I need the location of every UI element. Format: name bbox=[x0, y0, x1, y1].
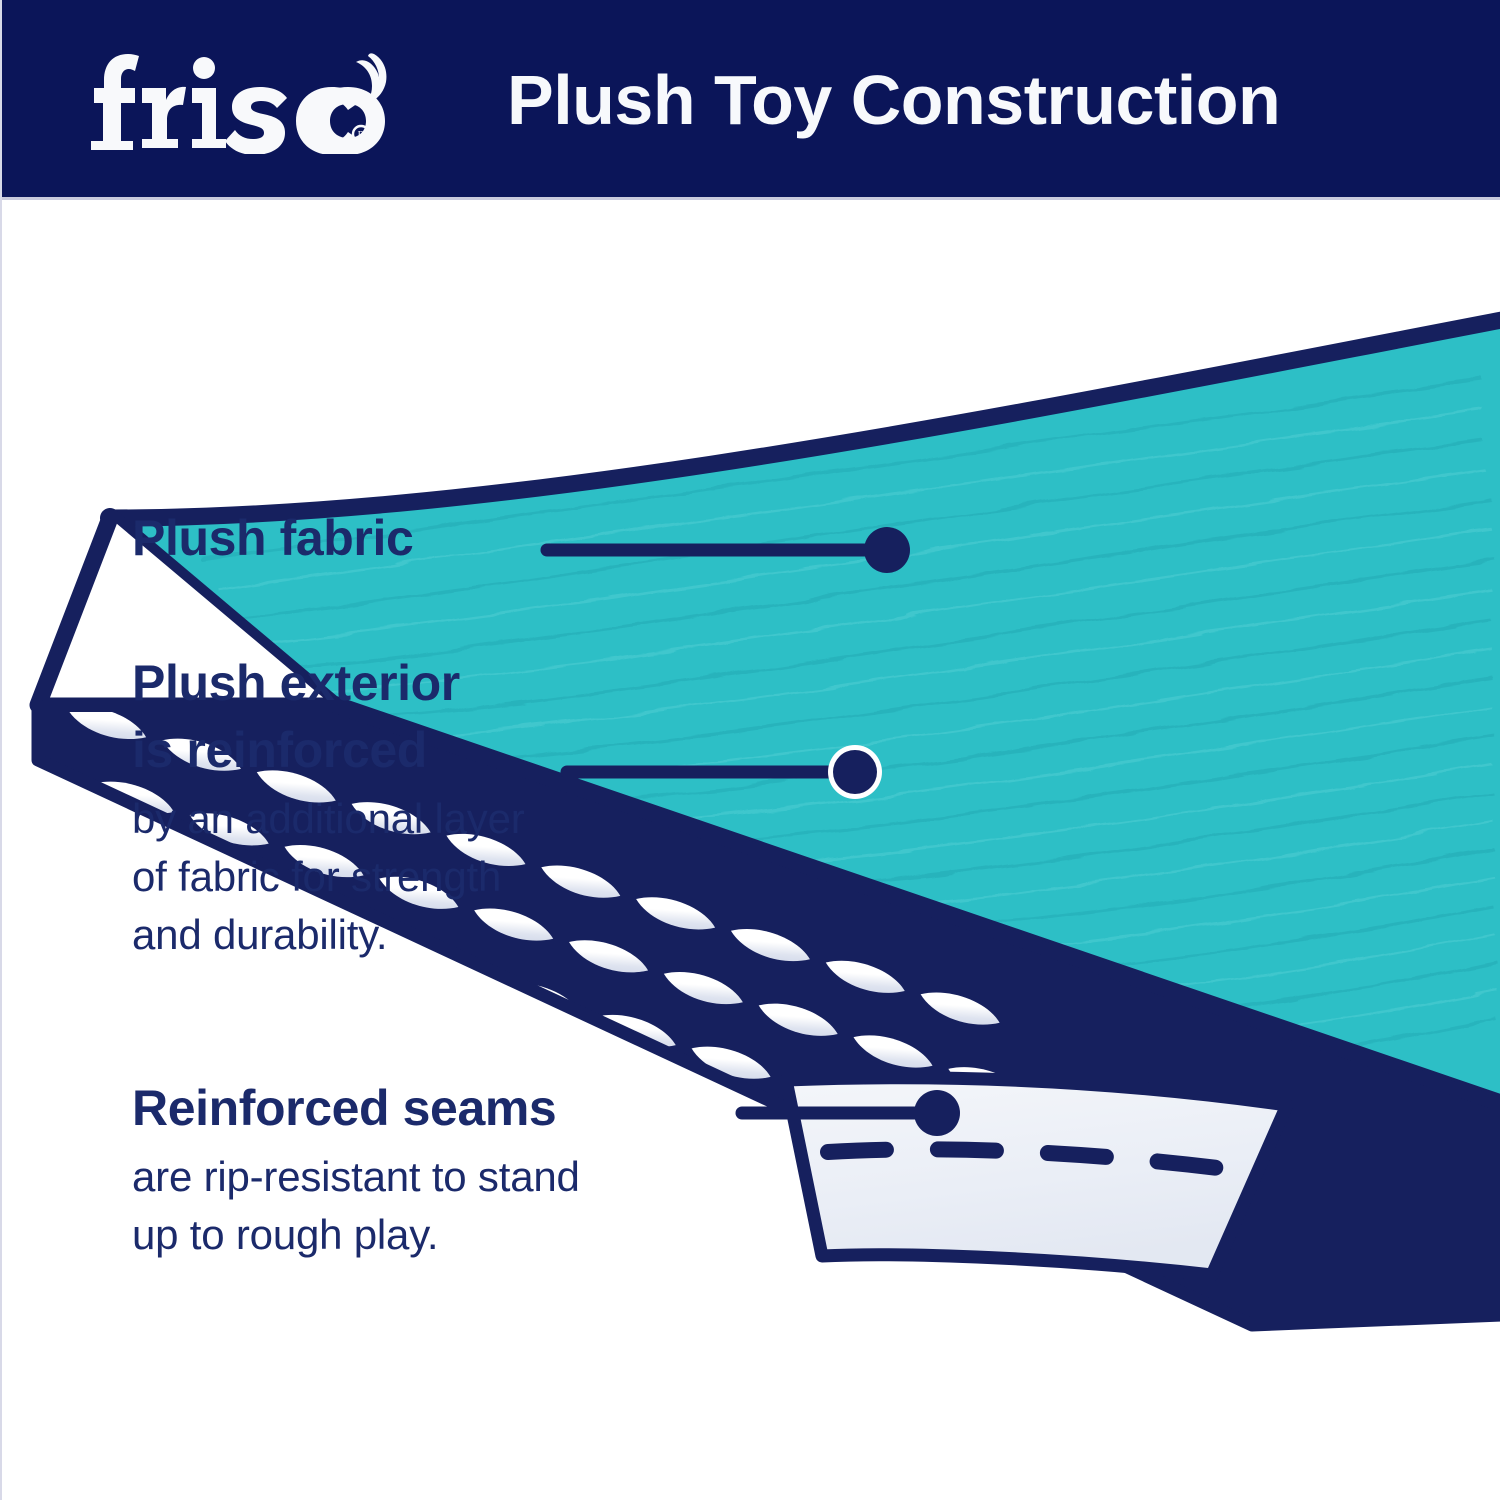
callout-body-line-1: by an additional layer bbox=[132, 790, 525, 848]
infographic-page: R Plush Toy Construction bbox=[0, 0, 1500, 1500]
callout-body-line-3: and durability. bbox=[132, 906, 525, 964]
callout-body-line-1: are rip-resistant to stand bbox=[132, 1148, 580, 1206]
page-title: Plush Toy Construction bbox=[507, 52, 1280, 148]
callout-heading-line-2: is reinforced bbox=[132, 717, 525, 784]
callout-dot-reinforced-seams bbox=[914, 1090, 960, 1136]
callout-plush-exterior: Plush exterior is reinforced by an addit… bbox=[132, 650, 525, 964]
callout-plush-fabric: Plush fabric bbox=[132, 505, 413, 572]
header-bar: R Plush Toy Construction bbox=[2, 0, 1500, 200]
callout-heading-line-1: Plush exterior bbox=[132, 650, 525, 717]
callout-reinforced-seams: Reinforced seams are rip-resistant to st… bbox=[132, 1075, 580, 1264]
callout-body: by an additional layer of fabric for str… bbox=[132, 790, 525, 964]
callout-body-line-2: up to rough play. bbox=[132, 1206, 580, 1264]
callout-heading: Reinforced seams bbox=[132, 1075, 580, 1142]
frisco-logo: R bbox=[80, 44, 390, 154]
callout-dot-plush-fabric bbox=[864, 527, 910, 573]
callout-heading: Plush fabric bbox=[132, 505, 413, 572]
callout-dot-plush-exterior bbox=[833, 750, 877, 794]
callout-body: are rip-resistant to stand up to rough p… bbox=[132, 1148, 580, 1264]
callout-body-line-2: of fabric for strength bbox=[132, 848, 525, 906]
svg-text:R: R bbox=[358, 130, 365, 141]
